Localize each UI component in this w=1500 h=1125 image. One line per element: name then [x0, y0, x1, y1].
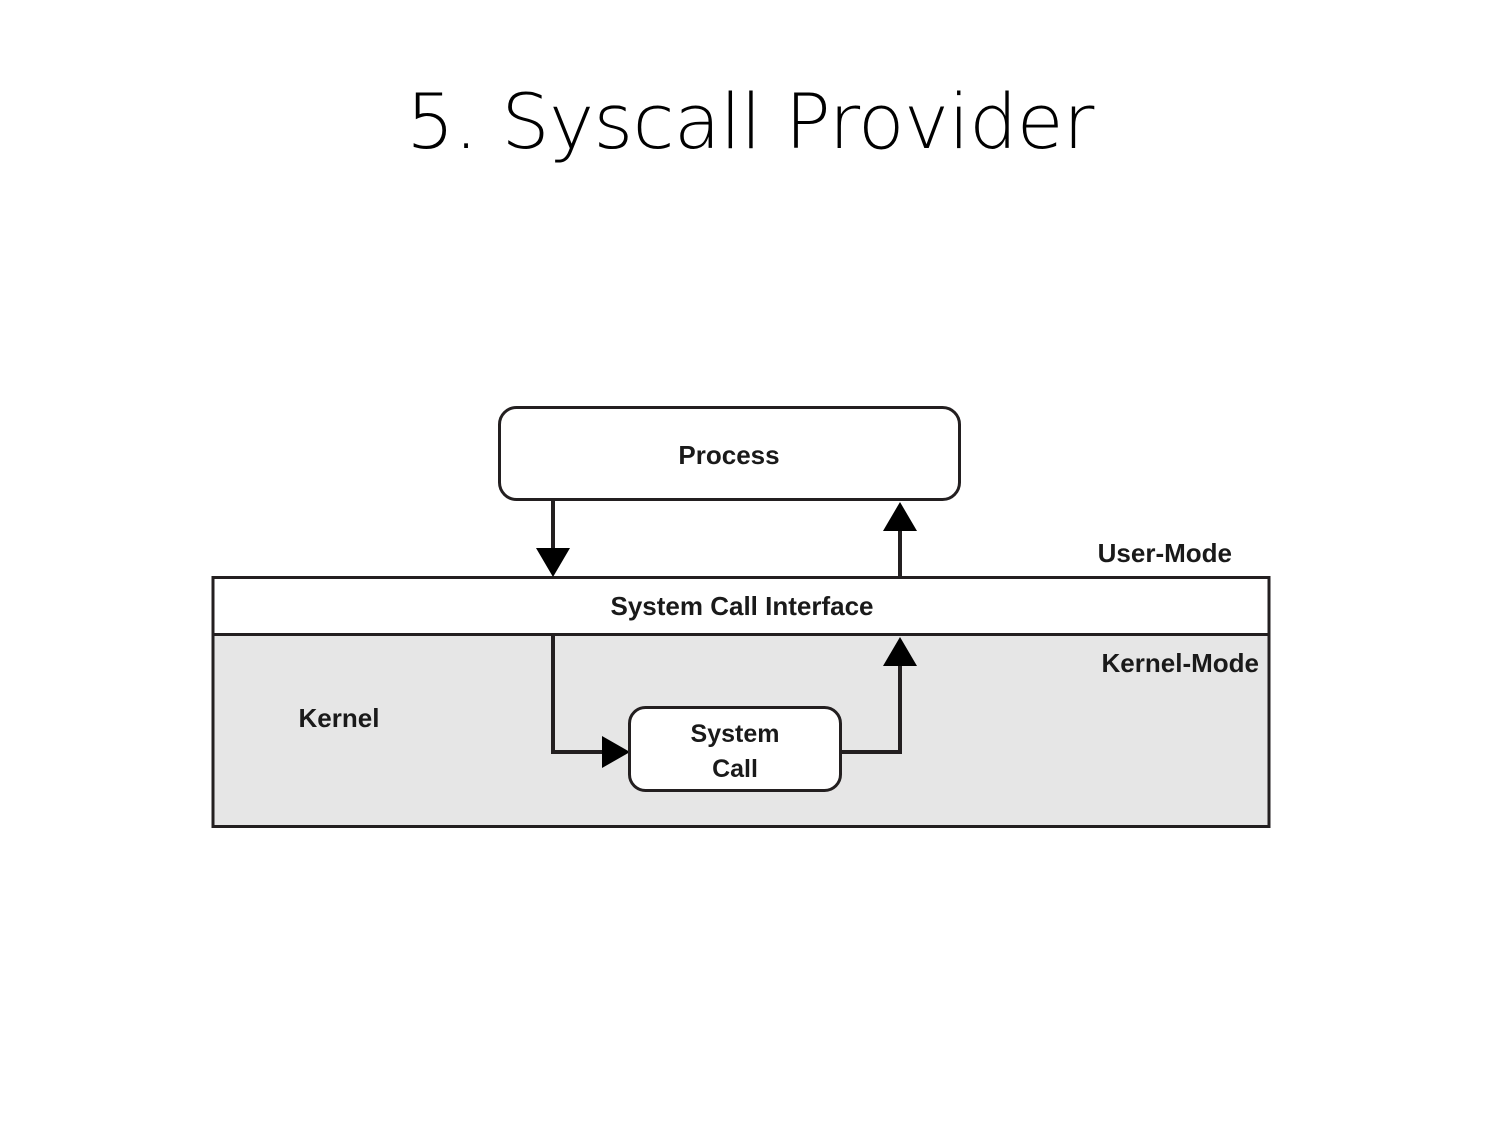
system-call-flow-diagram: Process System Call Interface System Cal…	[0, 0, 1500, 1125]
arrowhead-down-icon	[536, 548, 570, 577]
slide-canvas: 5. Syscall Provider	[0, 0, 1500, 1125]
system-call-label-line1: System	[691, 720, 780, 748]
user-mode-label: User-Mode	[1098, 538, 1232, 568]
process-label: Process	[678, 440, 779, 470]
kernel-mode-label: Kernel-Mode	[1102, 648, 1259, 678]
system-call-label-line2: Call	[712, 755, 758, 783]
diagram-container: Process System Call Interface System Cal…	[0, 0, 1500, 1125]
arrowhead-up-icon	[883, 502, 917, 531]
kernel-label: Kernel	[299, 703, 380, 733]
system-call-interface-label: System Call Interface	[610, 591, 873, 621]
edge-process-to-interface-icon	[536, 500, 570, 577]
edge-interface-to-process-icon	[883, 502, 917, 577]
